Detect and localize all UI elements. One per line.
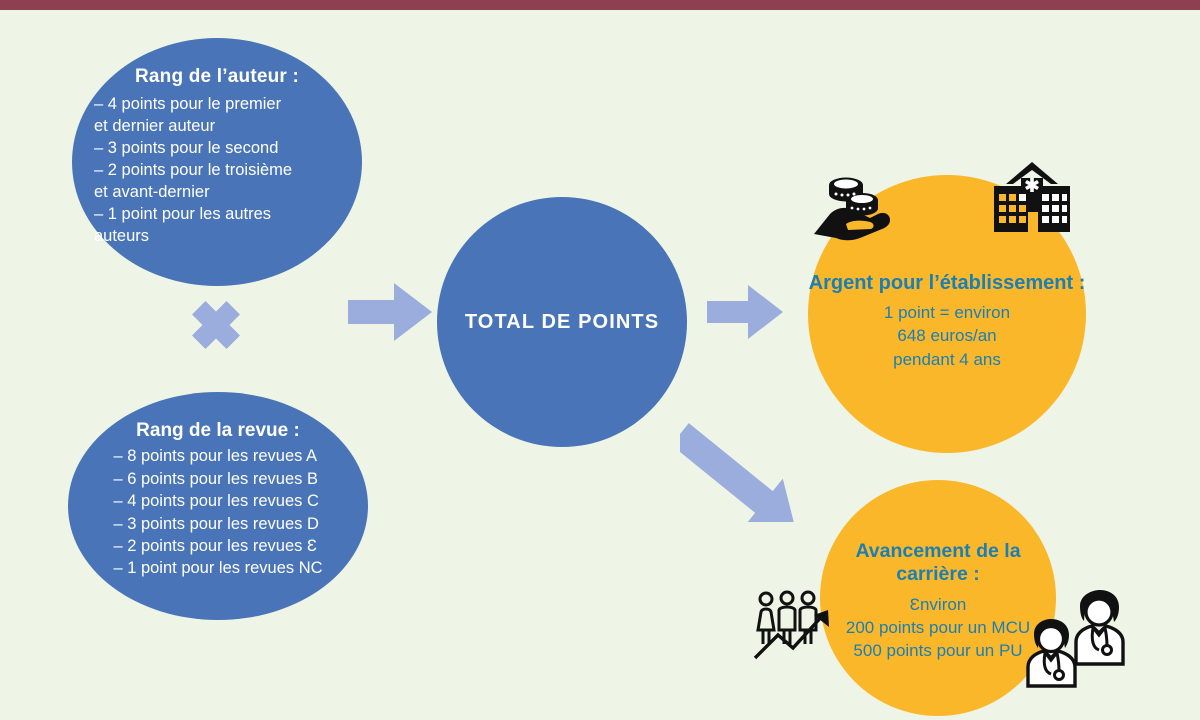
career-advancement-title: Avancement de la carrière :: [820, 540, 1056, 588]
author-rank-line: – 2 points pour le troisième: [94, 160, 292, 182]
growth-people-icon: [752, 588, 844, 662]
author-rank-line: et avant-dernier: [94, 182, 292, 204]
doctors-icon: [1018, 588, 1130, 688]
career-advancement-line: 200 points pour un MCU: [846, 616, 1030, 639]
money-institution-line: pendant 4 ans: [884, 348, 1010, 371]
career-advancement-line: 500 points pour un PU: [846, 639, 1030, 662]
author-rank-body: – 4 points pour le premier et dernier au…: [88, 94, 292, 248]
node-author-rank: Rang de l’auteur : – 4 points pour le pr…: [72, 38, 362, 286]
total-points-line: DE POINTS: [541, 311, 659, 333]
money-institution-line: 1 point = environ: [884, 301, 1010, 324]
author-rank-line: auteurs: [94, 226, 292, 248]
money-institution-line: 648 euros/an: [884, 324, 1010, 347]
journal-rank-body: – 8 points pour les revues A – 6 points …: [113, 445, 322, 580]
author-rank-line: et dernier auteur: [94, 116, 292, 138]
arrow-to-money-icon: [707, 283, 783, 341]
multiply-icon: [188, 297, 244, 353]
author-rank-line: – 1 point pour les autres: [94, 204, 292, 226]
node-journal-rank: Rang de la revue : – 8 points pour les r…: [68, 392, 368, 620]
journal-rank-line: – 6 points pour les revues B: [113, 468, 322, 490]
journal-rank-line: – 1 point pour les revues NC: [113, 557, 322, 579]
career-advancement-body: Ɛnviron 200 points pour un MCU 500 point…: [846, 593, 1030, 662]
arrow-to-total-icon: [348, 281, 432, 343]
money-institution-title-line: l’établissement :: [929, 272, 1086, 294]
career-advancement-title-line: Avancement: [855, 540, 970, 562]
author-rank-line: – 3 points pour le second: [94, 138, 292, 160]
top-accent-bar: [0, 0, 1200, 10]
journal-rank-title: Rang de la revue :: [136, 420, 300, 441]
arrow-to-career-icon: [680, 412, 832, 522]
coins-hand-icon: [812, 172, 908, 252]
total-points-line: TOTAL: [465, 311, 535, 333]
infographic-canvas: Rang de l’auteur : – 4 points pour le pr…: [0, 0, 1200, 720]
hospital-icon: [988, 160, 1076, 236]
node-total-points: TOTAL DE POINTS: [437, 197, 687, 447]
journal-rank-line: – 3 points pour les revues D: [113, 513, 322, 535]
money-institution-title: Argent pour l’établissement :: [809, 271, 1086, 295]
journal-rank-line: – 8 points pour les revues A: [113, 445, 322, 467]
money-institution-body: 1 point = environ 648 euros/an pendant 4…: [884, 301, 1010, 371]
author-rank-line: – 4 points pour le premier: [94, 94, 292, 116]
journal-rank-line: – 4 points pour les revues C: [113, 490, 322, 512]
journal-rank-line: – 2 points pour les revues Ɛ: [113, 535, 322, 557]
career-advancement-line: Ɛnviron: [846, 593, 1030, 616]
total-points-title: TOTAL DE POINTS: [465, 309, 659, 335]
money-institution-title-line: Argent pour: [809, 272, 923, 294]
author-rank-title: Rang de l’auteur :: [135, 66, 299, 87]
